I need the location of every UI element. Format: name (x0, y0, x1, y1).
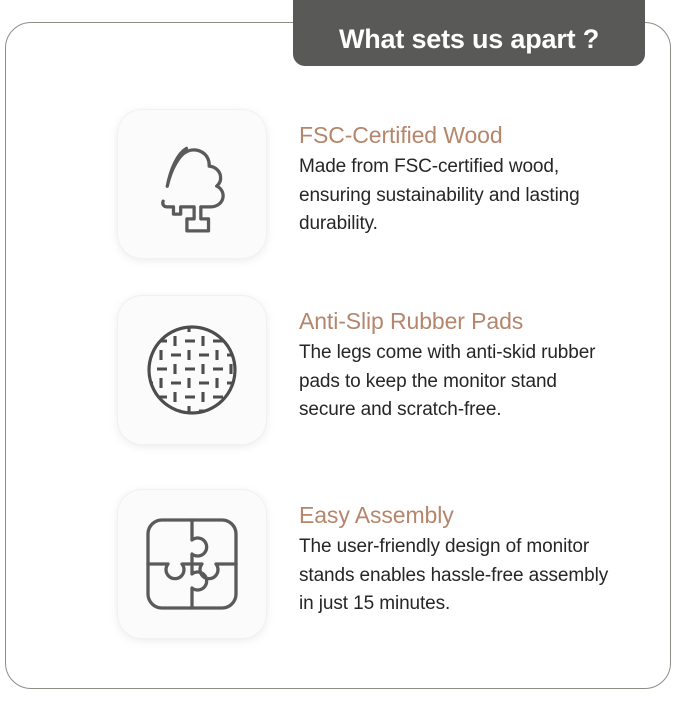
feature-description: The legs come with anti-skid rubber pads… (299, 339, 611, 423)
fsc-tree-checkmark-icon (137, 129, 247, 239)
feature-list: FSC-Certified Wood Made from FSC-certifi… (0, 0, 679, 702)
feature-item: Easy Assembly The user-friendly design o… (118, 490, 638, 638)
feature-text-block: Easy Assembly The user-friendly design o… (266, 490, 638, 618)
feature-icon-card (118, 296, 266, 444)
feature-icon-card (118, 110, 266, 258)
feature-title: Anti-Slip Rubber Pads (299, 308, 638, 334)
feature-description: Made from FSC-certified wood, ensuring s… (299, 153, 611, 237)
feature-icon-card (118, 490, 266, 638)
feature-title: Easy Assembly (299, 502, 638, 528)
feature-item: FSC-Certified Wood Made from FSC-certifi… (118, 110, 638, 258)
feature-text-block: FSC-Certified Wood Made from FSC-certifi… (266, 110, 638, 238)
feature-description: The user-friendly design of monitor stan… (299, 533, 611, 617)
feature-title: FSC-Certified Wood (299, 122, 638, 148)
feature-text-block: Anti-Slip Rubber Pads The legs come with… (266, 296, 638, 424)
feature-item: Anti-Slip Rubber Pads The legs come with… (118, 296, 638, 444)
woven-rubber-pad-icon (141, 319, 243, 421)
puzzle-pieces-icon (142, 514, 242, 614)
